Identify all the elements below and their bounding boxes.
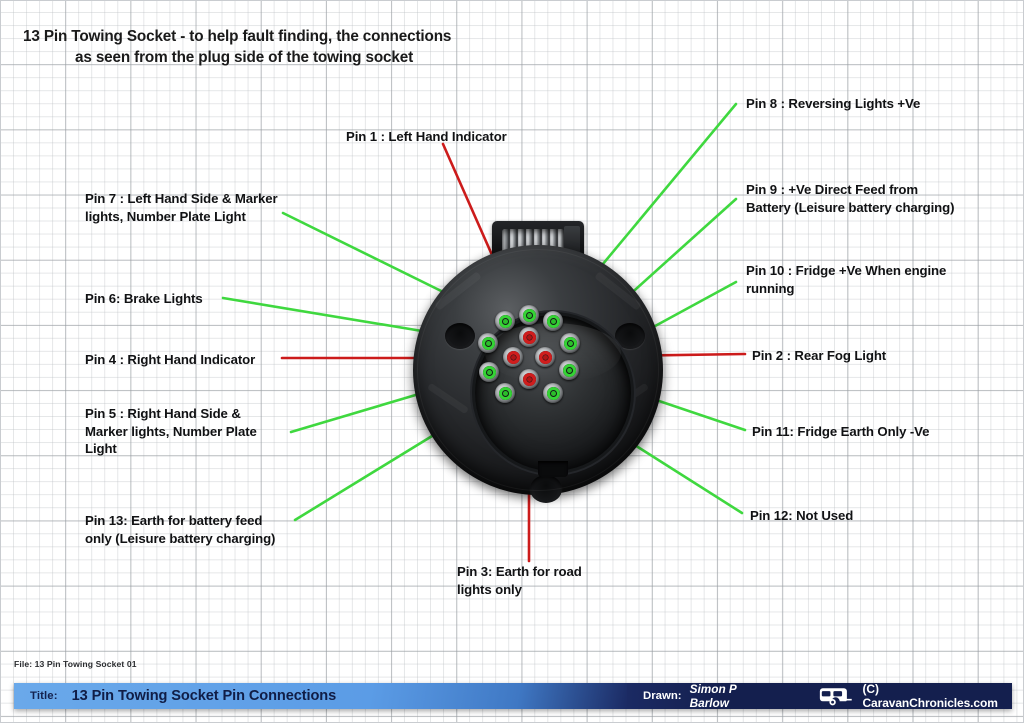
socket-rib	[427, 383, 469, 415]
callout-label-pin8: Pin 8 : Reversing Lights +Ve	[746, 95, 1011, 113]
socket-body	[413, 245, 663, 495]
socket-pin-1	[519, 305, 539, 325]
footer-title-key: Title:	[30, 690, 58, 702]
mounting-hole-left	[445, 323, 475, 349]
socket-pin-core	[539, 351, 552, 364]
socket-pin-5	[479, 362, 499, 382]
callout-label-pin5: Pin 5 : Right Hand Side & Marker lights,…	[85, 405, 300, 458]
socket-pin-core	[482, 337, 495, 350]
mounting-hole-bottom	[530, 475, 562, 503]
socket-pin-core	[507, 351, 520, 364]
socket-pin-core	[499, 387, 512, 400]
socket-pin-9	[560, 333, 580, 353]
callout-label-pin3: Pin 3: Earth for road lights only	[457, 563, 657, 598]
socket-pin-8	[543, 311, 563, 331]
socket-pin-core	[523, 331, 536, 344]
socket-pin-10	[559, 360, 579, 380]
socket-pin-core	[547, 315, 560, 328]
callout-label-pin9: Pin 9 : +Ve Direct Feed from Battery (Le…	[746, 181, 1016, 216]
socket-pin-12	[543, 383, 563, 403]
callout-label-pin6: Pin 6: Brake Lights	[85, 290, 315, 308]
socket-rib	[434, 271, 481, 311]
socket-pin-13	[495, 383, 515, 403]
callout-label-pin7: Pin 7 : Left Hand Side & Marker lights, …	[85, 190, 335, 225]
callout-label-pin13: Pin 13: Earth for battery feed only (Lei…	[85, 512, 335, 547]
socket-pin-core	[564, 337, 577, 350]
socket-pin-7	[495, 311, 515, 331]
callout-label-pin4: Pin 4 : Right Hand Indicator	[85, 351, 315, 369]
callout-label-pin11: Pin 11: Fridge Earth Only -Ve	[752, 423, 1012, 441]
footer-title-block: Title: 13 Pin Towing Socket Pin Connecti…	[14, 683, 627, 709]
socket-pin-core	[547, 387, 560, 400]
socket-pin-core	[563, 364, 576, 377]
mounting-hole-right	[615, 323, 645, 349]
diagram-canvas: 13 Pin Towing Socket - to help fault fin…	[0, 0, 1024, 723]
footer-title-value: 13 Pin Towing Socket Pin Connections	[72, 688, 337, 704]
callout-label-pin2: Pin 2 : Rear Fog Light	[752, 347, 1012, 365]
footer-drawn-key: Drawn:	[643, 690, 682, 702]
socket-pin-2	[519, 327, 539, 347]
socket-pin-core	[523, 309, 536, 322]
socket-pin-6	[478, 333, 498, 353]
footer-drawn-value: Simon P Barlow	[690, 683, 776, 709]
socket-rib	[607, 383, 649, 415]
callout-label-pin12: Pin 12: Not Used	[750, 507, 1010, 525]
socket-rib	[594, 271, 641, 311]
callout-label-pin1: Pin 1 : Left Hand Indicator	[346, 128, 606, 146]
socket-pin-core	[483, 366, 496, 379]
socket-pin-4	[503, 347, 523, 367]
file-caption: File: 13 Pin Towing Socket 01	[14, 659, 137, 669]
socket-pin-11	[519, 369, 539, 389]
socket-pin-core	[499, 315, 512, 328]
socket-keyway-notch	[538, 461, 568, 477]
footer-copyright: (C) CaravanChronicles.com	[862, 683, 1012, 709]
socket-pin-3	[535, 347, 555, 367]
callout-label-pin10: Pin 10 : Fridge +Ve When engine running	[746, 262, 1016, 297]
footer-credits-block: Drawn: Simon P Barlow (C) CaravanChronic…	[627, 683, 1012, 709]
socket-pin-core	[523, 373, 536, 386]
footer-bar: Title: 13 Pin Towing Socket Pin Connecti…	[14, 683, 1012, 709]
caravan-icon	[816, 686, 855, 706]
